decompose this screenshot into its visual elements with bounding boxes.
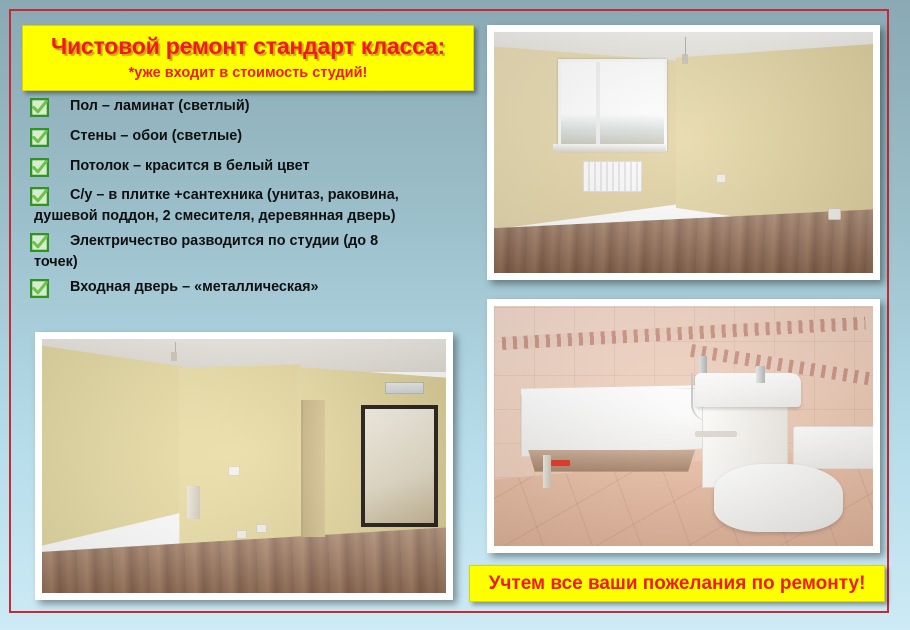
list-item: Пол – ламинат (светлый): [26, 96, 476, 117]
check-box-icon: [30, 279, 49, 298]
list-item: С/у – в плитке +сантехника (унитаз, рако…: [26, 185, 476, 227]
window-mullion: [596, 62, 600, 149]
footer-note: Учтем все ваши пожелания по ремонту!: [470, 566, 884, 602]
entry-doorway: [361, 405, 438, 527]
wall-socket: [716, 174, 726, 183]
lamp-socket-icon: [171, 352, 177, 361]
check-box-icon: [30, 187, 49, 206]
footer-banner: Учтем все ваши пожелания по ремонту!: [469, 565, 885, 602]
vent-grille: [385, 382, 423, 394]
list-item-label-cont: душевой поддон, 2 смесителя, деревянная …: [26, 206, 476, 227]
list-item-label: Пол – ламинат (светлый): [26, 96, 476, 117]
check-box-icon: [30, 233, 49, 252]
bathtub: [521, 388, 705, 457]
drain-pipe: [695, 431, 737, 437]
photo-living-room-image: [494, 32, 873, 273]
title-banner: Чистовой ремонт стандарт класса: *уже вх…: [22, 25, 474, 91]
check-box-icon: [30, 158, 49, 177]
toilet-bowl: [714, 464, 843, 531]
list-item: Потолок – красится в белый цвет: [26, 156, 476, 177]
list-item-label: Входная дверь – «металлическая»: [26, 277, 476, 298]
photo-studio: [35, 332, 453, 600]
check-box-icon: [30, 98, 49, 117]
check-box-icon: [30, 128, 49, 147]
lamp-socket-icon: [682, 54, 688, 64]
list-item: Стены – обои (светлые): [26, 126, 476, 147]
page-subtitle: *уже входит в стоимость студий!: [23, 61, 473, 85]
heating-pipes: [187, 486, 199, 519]
photo-bathroom: [487, 299, 880, 553]
doorway-opening: [365, 409, 434, 523]
feature-list: Пол – ламинат (светлый) Стены – обои (св…: [26, 96, 476, 300]
wall-socket: [228, 466, 240, 476]
list-item-label: Электричество разводится по студии (до 8: [26, 231, 476, 252]
right-wall: [676, 44, 873, 237]
left-wall: [42, 342, 183, 550]
page-title: Чистовой ремонт стандарт класса:: [23, 31, 473, 61]
interior-door: [301, 400, 325, 537]
list-item-label: Потолок – красится в белый цвет: [26, 156, 476, 177]
photo-bathroom-image: [494, 306, 873, 546]
list-item-label-cont: точек): [26, 252, 476, 273]
list-item: Электричество разводится по студии (до 8…: [26, 231, 476, 273]
sink-mixer-tap: [756, 366, 766, 383]
list-item-label: С/у – в плитке +сантехника (унитаз, рако…: [26, 185, 476, 206]
wall-socket: [236, 530, 247, 539]
photo-living-room: [487, 25, 880, 280]
toilet-cistern: [793, 426, 873, 469]
photo-studio-image: [42, 339, 446, 593]
wall-socket: [256, 524, 267, 533]
radiator: [583, 161, 642, 192]
center-wall: [179, 364, 300, 552]
window: [558, 59, 666, 152]
list-item: Входная дверь – «металлическая»: [26, 277, 476, 298]
window-sill: [553, 144, 667, 152]
washbasin: [695, 373, 801, 407]
wall-socket: [828, 208, 841, 220]
water-pipe: [543, 455, 551, 489]
red-valve-handle: [551, 460, 570, 466]
list-item-label: Стены – обои (светлые): [26, 126, 476, 147]
